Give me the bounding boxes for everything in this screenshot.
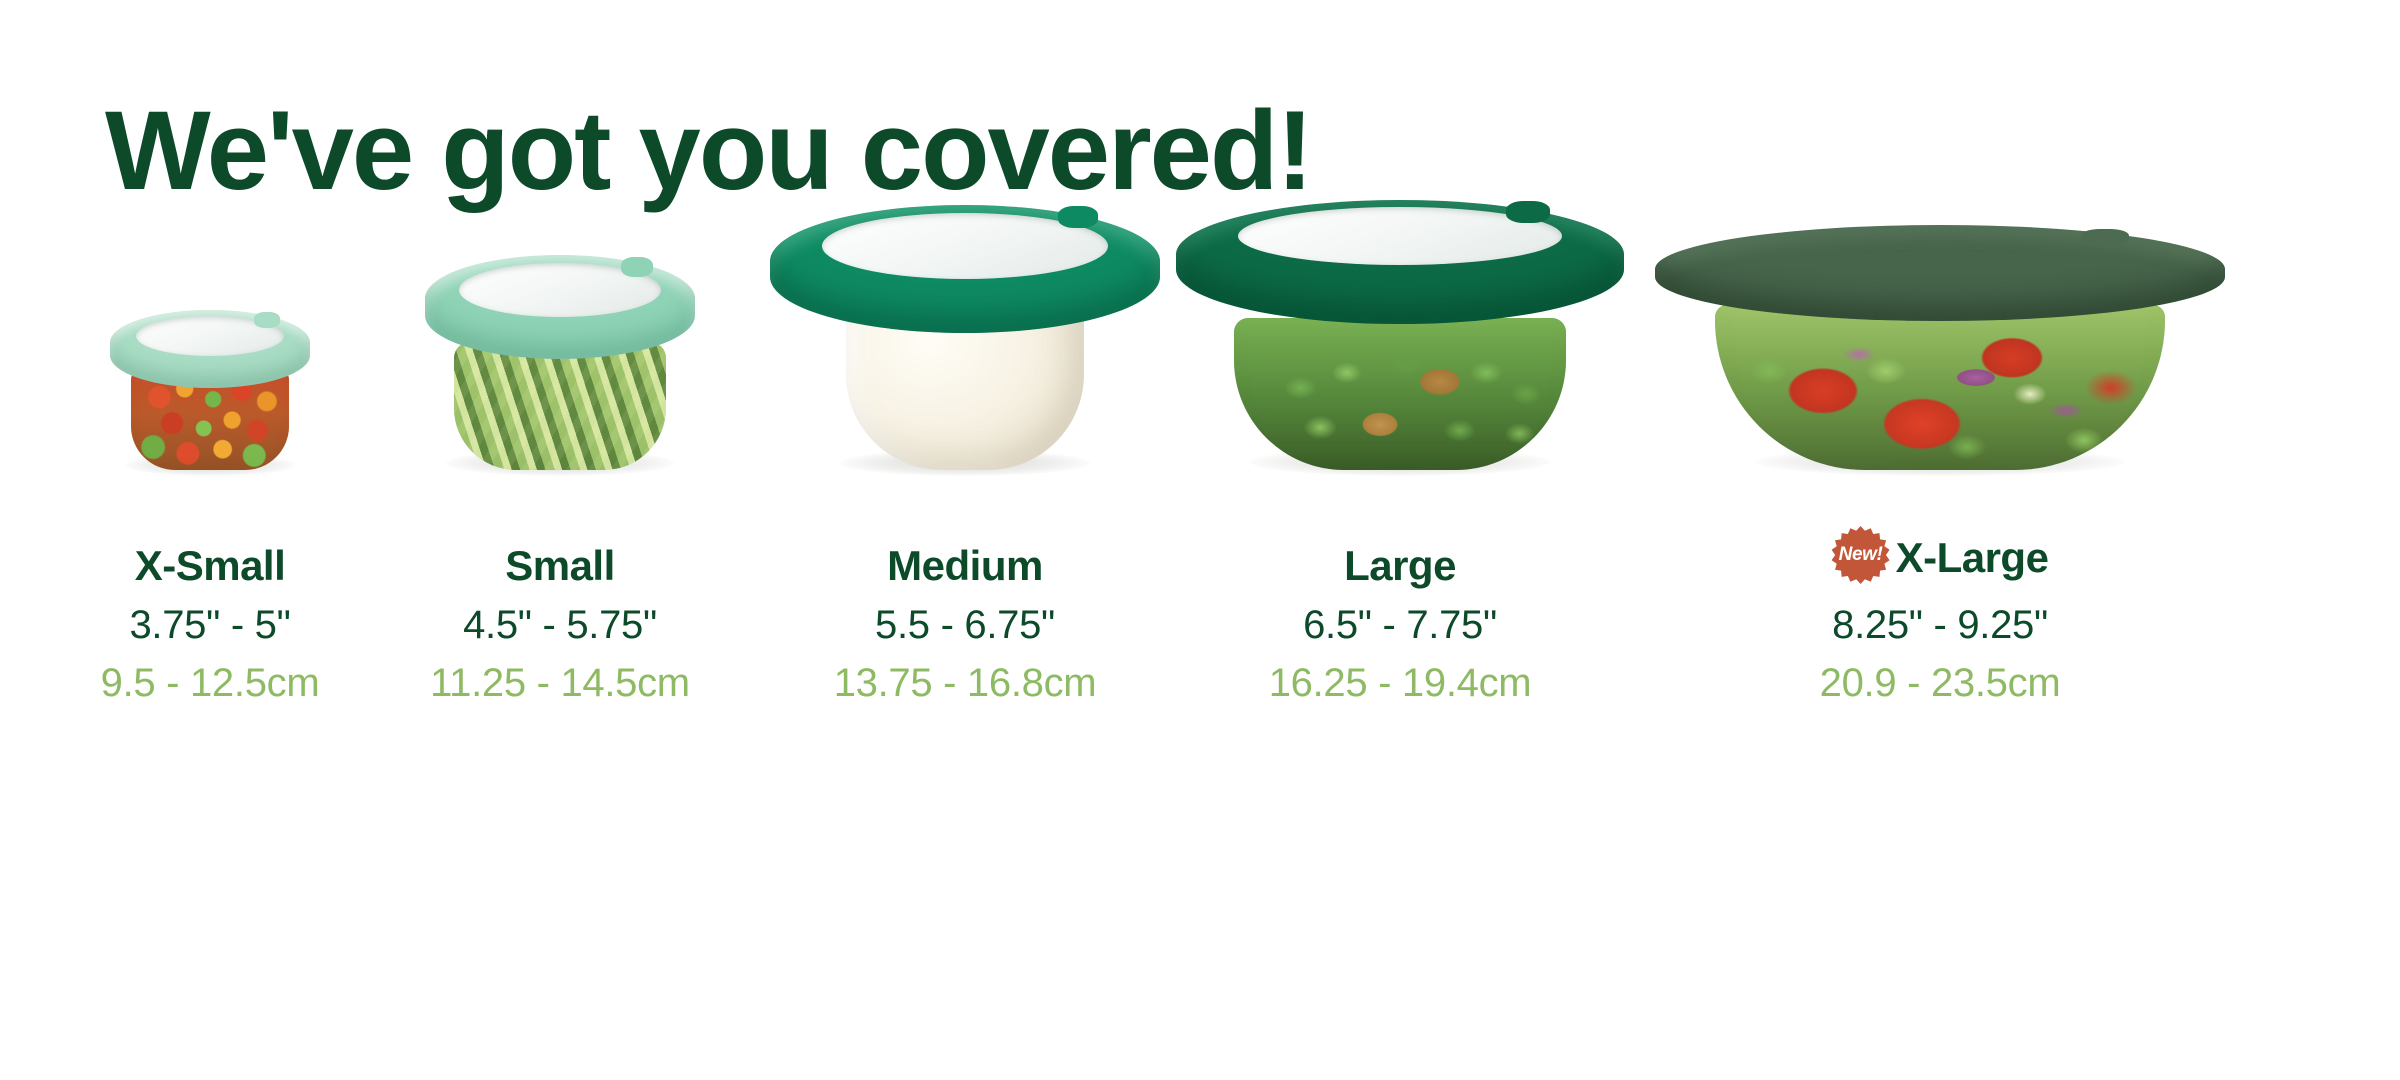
- size-cm: 13.75 - 16.8cm: [834, 661, 1097, 706]
- bowl-lid: [110, 310, 310, 388]
- size-label: X-Small: [135, 542, 286, 590]
- size-cm: 9.5 - 12.5cm: [101, 661, 320, 706]
- bowl-lid: [425, 255, 695, 359]
- bowl-small: [425, 255, 695, 470]
- new-badge: New!: [1832, 532, 1896, 590]
- product-size-comparison: We've got you covered! X-Small 3.75" - 5…: [0, 0, 2400, 1080]
- new-badge-label: New!: [1832, 526, 1890, 584]
- size-column-x-large: New! X-Large 8.25" - 9.25" 20.9 - 23.5cm: [1660, 300, 2220, 780]
- size-label: Large: [1344, 542, 1456, 590]
- bowl-large: [1176, 200, 1624, 470]
- lid-tab-icon: [1506, 201, 1550, 223]
- size-inches: 8.25" - 9.25": [1832, 603, 2048, 648]
- size-row: X-Small 3.75" - 5" 9.5 - 12.5cm Small: [0, 300, 2400, 780]
- bowl-body: [1234, 318, 1566, 470]
- bowl-lid: [770, 205, 1160, 333]
- size-inches: 6.5" - 7.75": [1303, 603, 1497, 648]
- size-column-medium: Medium 5.5 - 6.75" 13.75 - 16.8cm: [775, 300, 1155, 780]
- starburst-icon: New!: [1832, 526, 1890, 584]
- size-inches: 5.5 - 6.75": [875, 603, 1055, 648]
- bowl-body: [1715, 305, 2165, 470]
- lid-tab-icon: [2081, 229, 2129, 245]
- size-label: Medium: [887, 542, 1043, 590]
- bowl-lid: [1176, 200, 1624, 324]
- bowl-contents-zucchini-noodles: [454, 342, 666, 470]
- size-label: Small: [505, 542, 615, 590]
- bowl-medium: [770, 205, 1160, 470]
- size-column-small: Small 4.5" - 5.75" 11.25 - 14.5cm: [395, 300, 725, 780]
- page-title: We've got you covered!: [105, 95, 1312, 207]
- size-cm: 20.9 - 23.5cm: [1820, 661, 2061, 706]
- lid-tab-icon: [621, 257, 653, 277]
- size-label-text: X-Large: [1896, 534, 2049, 581]
- size-inches: 3.75" - 5": [129, 603, 290, 648]
- lid-tab-icon: [1058, 206, 1098, 228]
- bowl-contents-garden-salad: [1715, 305, 2165, 470]
- bowl-x-large: [1655, 225, 2225, 470]
- bowl-contents-green-salad-walnuts: [1234, 318, 1566, 470]
- bowl-body: [454, 342, 666, 470]
- bowl-lid: [1655, 225, 2225, 321]
- size-inches: 4.5" - 5.75": [463, 603, 657, 648]
- size-column-x-small: X-Small 3.75" - 5" 9.5 - 12.5cm: [65, 300, 355, 780]
- size-cm: 11.25 - 14.5cm: [430, 661, 690, 706]
- lid-tab-icon: [254, 312, 280, 328]
- size-label: New! X-Large: [1832, 532, 2049, 590]
- size-cm: 16.25 - 19.4cm: [1269, 661, 1532, 706]
- size-column-large: Large 6.5" - 7.75" 16.25 - 19.4cm: [1200, 300, 1600, 780]
- bowl-x-small: [110, 310, 310, 470]
